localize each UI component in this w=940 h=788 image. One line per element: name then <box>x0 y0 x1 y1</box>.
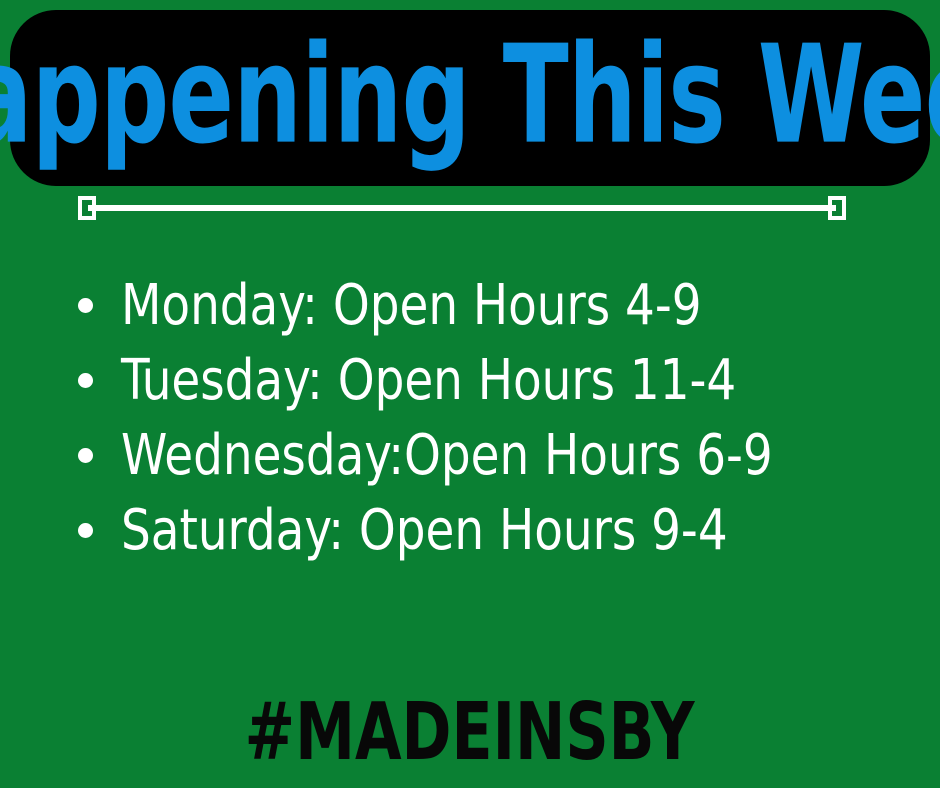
list-item: Saturday: Open Hours 9-4 <box>78 493 898 568</box>
title-banner: Happening This Week <box>10 10 930 186</box>
divider-line <box>88 205 836 211</box>
list-item: Monday: Open Hours 4-9 <box>78 268 898 343</box>
schedule-list: Monday: Open Hours 4-9 Tuesday: Open Hou… <box>78 268 898 568</box>
bullet-icon <box>78 298 93 313</box>
schedule-item-label: Monday: Open Hours 4-9 <box>121 278 702 334</box>
schedule-item-label: Wednesday:Open Hours 6-9 <box>121 428 773 484</box>
schedule-item-label: Tuesday: Open Hours 11-4 <box>121 353 736 409</box>
bullet-icon <box>78 373 93 388</box>
bullet-icon <box>78 523 93 538</box>
list-item: Tuesday: Open Hours 11-4 <box>78 343 898 418</box>
divider-cap-right-icon <box>828 196 846 220</box>
page-title: Happening This Week <box>0 28 940 164</box>
bullet-icon <box>78 448 93 463</box>
divider <box>78 196 846 220</box>
list-item: Wednesday:Open Hours 6-9 <box>78 418 898 493</box>
poster-canvas: Happening This Week Monday: Open Hours 4… <box>0 0 940 788</box>
hashtag: #MADEINSBY <box>0 694 940 770</box>
hashtag-label: #MADEINSBY <box>245 692 695 771</box>
schedule-item-label: Saturday: Open Hours 9-4 <box>121 503 728 559</box>
